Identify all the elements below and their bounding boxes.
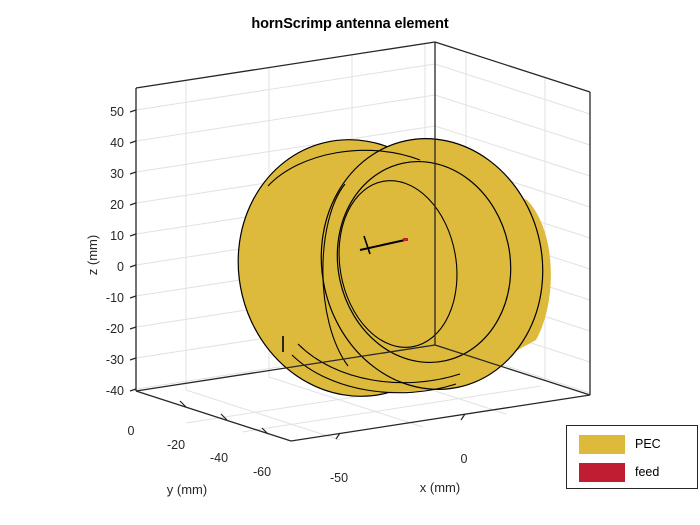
y-tick-label: 0	[128, 424, 135, 438]
z-tick-label: 10	[110, 229, 124, 243]
z-tick-label: -40	[106, 384, 124, 398]
legend-item-feed[interactable]: feed	[567, 460, 697, 484]
z-tick-label: 50	[110, 105, 124, 119]
y-tick-label: -20	[167, 438, 185, 452]
z-tick-label: 30	[110, 167, 124, 181]
legend-label-feed: feed	[635, 466, 659, 479]
z-tick-label: -10	[106, 291, 124, 305]
y-axis-label: y (mm)	[167, 482, 207, 497]
y-tick-labels: 0 -20 -40 -60	[128, 424, 272, 479]
z-tick-label: 0	[117, 260, 124, 274]
y-tick-label: -40	[210, 451, 228, 465]
antenna-feed-element	[403, 238, 408, 241]
x-axis-label: x (mm)	[420, 480, 460, 495]
z-tick-label: -30	[106, 353, 124, 367]
legend-swatch-feed	[579, 463, 625, 482]
z-tick-label: 40	[110, 136, 124, 150]
x-tick-label: -50	[330, 471, 348, 485]
z-tick-label: 20	[110, 198, 124, 212]
y-tick-label: -60	[253, 465, 271, 479]
x-tick-label: 0	[461, 452, 468, 466]
legend-label-pec: PEC	[635, 438, 661, 451]
z-axis-label: z (mm)	[85, 235, 100, 275]
legend-swatch-pec	[579, 435, 625, 454]
z-tick-labels: 50 40 30 20 10 0 -10 -20 -30 -40	[106, 105, 124, 398]
z-tick-label: -20	[106, 322, 124, 336]
legend-item-pec[interactable]: PEC	[567, 432, 697, 456]
legend[interactable]: PEC feed	[566, 425, 698, 489]
figure-canvas: hornScrimp antenna element	[0, 0, 700, 525]
